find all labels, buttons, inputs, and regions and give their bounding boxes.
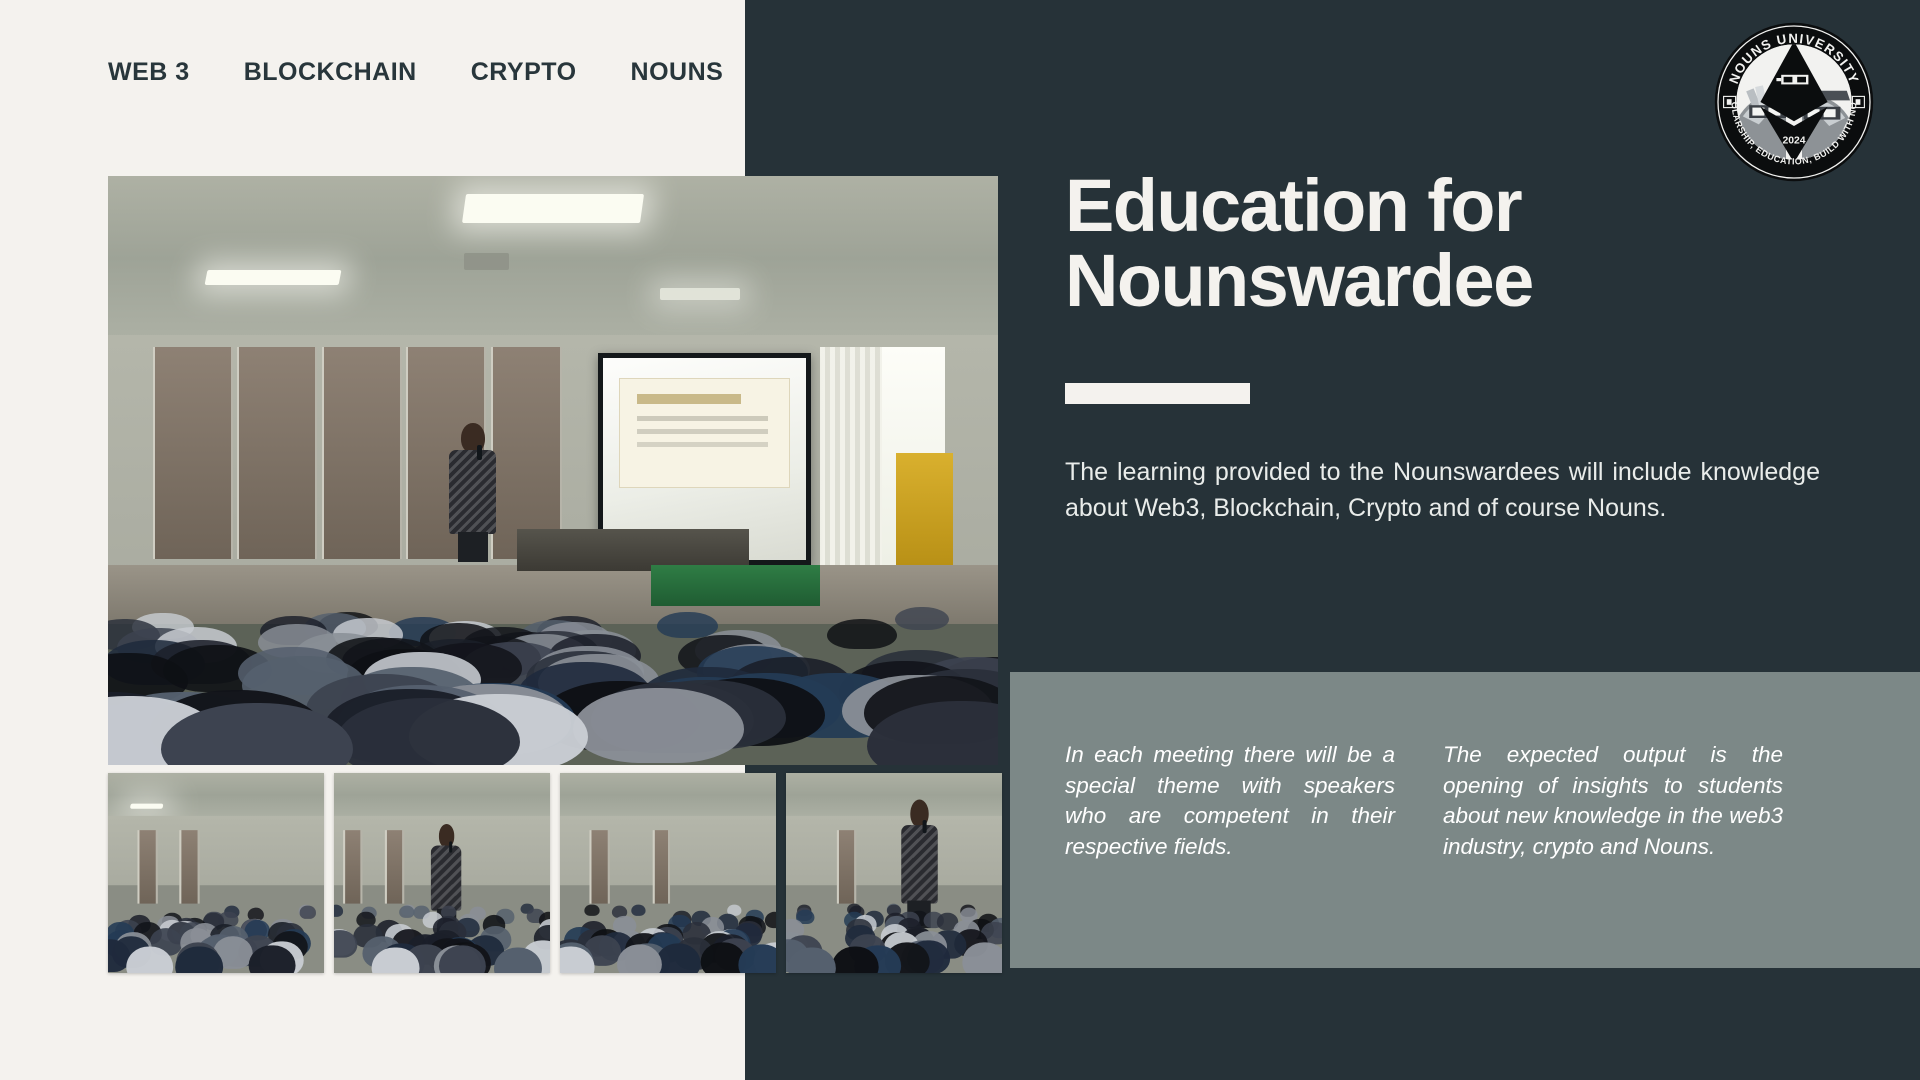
audience-head: [895, 607, 948, 630]
audience-crowd: [334, 857, 550, 973]
slide-canvas: WEB 3 BLOCKCHAIN CRYPTO NOUNS: [0, 0, 1920, 1080]
lead-paragraph: The learning provided to the Nounswardee…: [1065, 455, 1820, 526]
thumb-scene: [786, 773, 1002, 973]
thumbnail-4[interactable]: [786, 773, 1002, 973]
ceiling-light-icon: [462, 194, 644, 223]
logo-year: 2024: [1782, 136, 1805, 147]
audience-crowd: [560, 857, 776, 973]
title-underline-rule: [1065, 383, 1250, 404]
thumbnail-3[interactable]: [560, 773, 776, 973]
audience-head: [739, 945, 776, 973]
thumbnail-1[interactable]: [108, 773, 324, 973]
ceiling-vent: [464, 253, 509, 271]
microphone-icon: [923, 820, 927, 834]
hero-scene: [108, 176, 998, 765]
nav-item-nouns[interactable]: NOUNS: [631, 58, 724, 87]
audience-head: [764, 912, 776, 928]
audience-head: [300, 906, 316, 919]
column-text-right: The expected output is the opening of in…: [1443, 740, 1783, 862]
hero-photo: [108, 176, 998, 765]
title-line-1: Education for: [1065, 164, 1521, 247]
nav-item-crypto[interactable]: CRYPTO: [471, 58, 577, 87]
audience-head: [585, 904, 599, 916]
audience-head: [962, 943, 1002, 973]
thumb-scene: [560, 773, 776, 973]
projected-slide: [619, 378, 790, 488]
ceiling-light-icon: [130, 804, 164, 809]
ceiling-light-icon: [204, 270, 340, 285]
audience-head: [827, 619, 897, 650]
thumbnail-strip: [108, 773, 1002, 973]
topic-nav: WEB 3 BLOCKCHAIN CRYPTO NOUNS: [108, 58, 723, 87]
column-text-left: In each meeting there will be a special …: [1065, 740, 1395, 862]
nav-item-blockchain[interactable]: BLOCKCHAIN: [244, 58, 417, 87]
thumb-scene: [334, 773, 550, 973]
thumbnail-2[interactable]: [334, 773, 550, 973]
audience-head: [655, 944, 700, 973]
nouns-university-logo: 2024 NOUNS UNIVERSITY SCHOLARSHIP, EDUCA…: [1714, 22, 1874, 182]
audience-head: [334, 905, 343, 917]
ceiling-light-icon: [660, 288, 740, 300]
audience-head: [573, 688, 744, 763]
title-line-2: Nounswardee: [1065, 239, 1533, 322]
microphone-icon: [449, 841, 452, 853]
audience-crowd: [108, 506, 998, 765]
thumb-scene: [108, 773, 324, 973]
nav-item-web3[interactable]: WEB 3: [108, 58, 190, 87]
audience-head: [631, 904, 645, 916]
lower-text-columns: In each meeting there will be a special …: [1065, 740, 1825, 862]
audience-head: [399, 906, 414, 918]
microphone-icon: [477, 445, 482, 460]
audience-crowd: [786, 857, 1002, 973]
audience-crowd: [108, 857, 324, 973]
page-title: Education for Nounswardee: [1065, 168, 1785, 319]
